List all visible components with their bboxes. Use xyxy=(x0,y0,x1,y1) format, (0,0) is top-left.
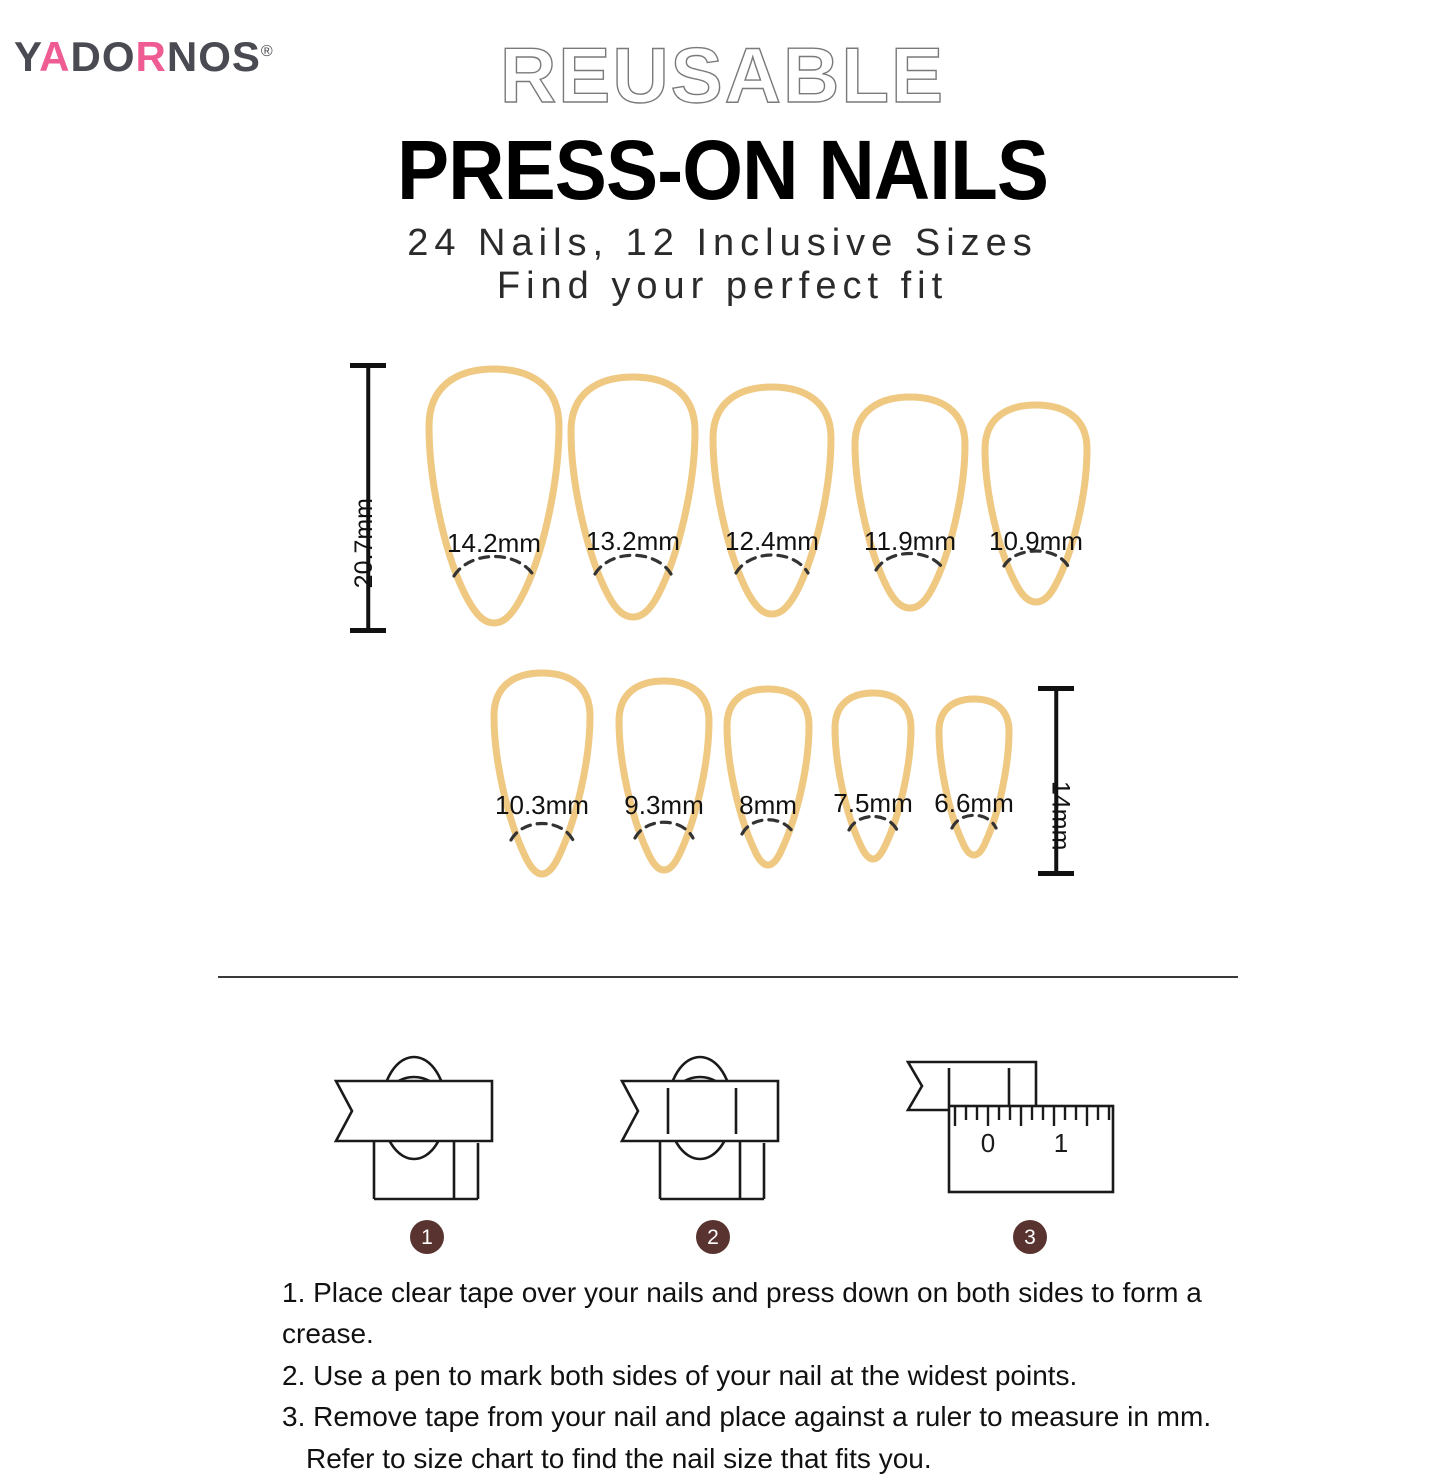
subtitle-line-2: Find your perfect fit xyxy=(0,265,1445,309)
ruler-label-0: 0 xyxy=(981,1128,995,1158)
tape-on-ruler-icon: 0 1 xyxy=(898,1042,1128,1212)
finger-with-tape-icon xyxy=(330,1033,530,1213)
step-badge-2: 2 xyxy=(696,1220,730,1254)
dimension-label-row-1: 20.7mm xyxy=(352,498,377,588)
nail-shape-icon xyxy=(614,676,714,876)
nail-shape-icon xyxy=(830,688,916,864)
instruction-item-2: 2. Use a pen to mark both sides of your … xyxy=(282,1355,1262,1396)
page-title: PRESS-ON NAILS xyxy=(51,128,1395,212)
step-badge-3: 3 xyxy=(1013,1220,1047,1254)
nail-shape-icon xyxy=(934,694,1014,860)
nail-item: 7.5mm xyxy=(830,688,916,864)
nail-shape-icon xyxy=(566,372,700,622)
step-diagram-2: 2 xyxy=(616,1033,816,1213)
nail-shape-icon xyxy=(424,364,564,628)
nail-shape-icon xyxy=(489,668,595,880)
ruler-label-1: 1 xyxy=(1054,1128,1068,1158)
dimension-cap-bottom xyxy=(350,628,386,633)
subtitle-line-1: 24 Nails, 12 Inclusive Sizes xyxy=(0,222,1445,266)
nail-item: 14.2mm xyxy=(424,364,564,628)
instruction-item-3: 3. Remove tape from your nail and place … xyxy=(282,1396,1262,1437)
step-badge-1: 1 xyxy=(410,1220,444,1254)
dimension-label-row-2: 14mm xyxy=(1048,781,1073,850)
dimension-line-row-1: 20.7mm xyxy=(350,363,386,633)
eyebrow-heading: REUSABLE xyxy=(0,36,1445,114)
nail-shape-icon xyxy=(722,684,814,870)
nail-shape-icon xyxy=(708,382,836,618)
tape-with-pen-marks-icon xyxy=(616,1033,816,1213)
nail-item: 10.9mm xyxy=(980,400,1092,606)
dimension-cap-top xyxy=(1038,686,1074,691)
nail-shape-icon xyxy=(850,392,970,612)
nail-item: 12.4mm xyxy=(708,382,836,618)
dimension-cap-bottom xyxy=(1038,871,1074,876)
nail-item: 9.3mm xyxy=(614,676,714,876)
nail-width-label: 10.9mm xyxy=(943,528,1129,554)
nail-item: 6.6mm xyxy=(934,694,1014,860)
instruction-item-1: 1. Place clear tape over your nails and … xyxy=(282,1272,1262,1355)
nail-item: 8mm xyxy=(722,684,814,870)
dimension-line-row-2: 14mm xyxy=(1038,686,1074,876)
nail-item: 11.9mm xyxy=(850,392,970,612)
dimension-cap-top xyxy=(350,363,386,368)
instruction-item-3-continued: Refer to size chart to find the nail siz… xyxy=(282,1438,1262,1479)
instructions-list: 1. Place clear tape over your nails and … xyxy=(282,1272,1262,1479)
nail-shape-icon xyxy=(980,400,1092,606)
nail-item: 10.3mm xyxy=(489,668,595,880)
nail-item: 13.2mm xyxy=(566,372,700,622)
section-divider xyxy=(218,976,1238,978)
step-diagram-1: 1 xyxy=(330,1033,530,1213)
step-diagram-3: 0 1 3 xyxy=(898,1042,1128,1212)
